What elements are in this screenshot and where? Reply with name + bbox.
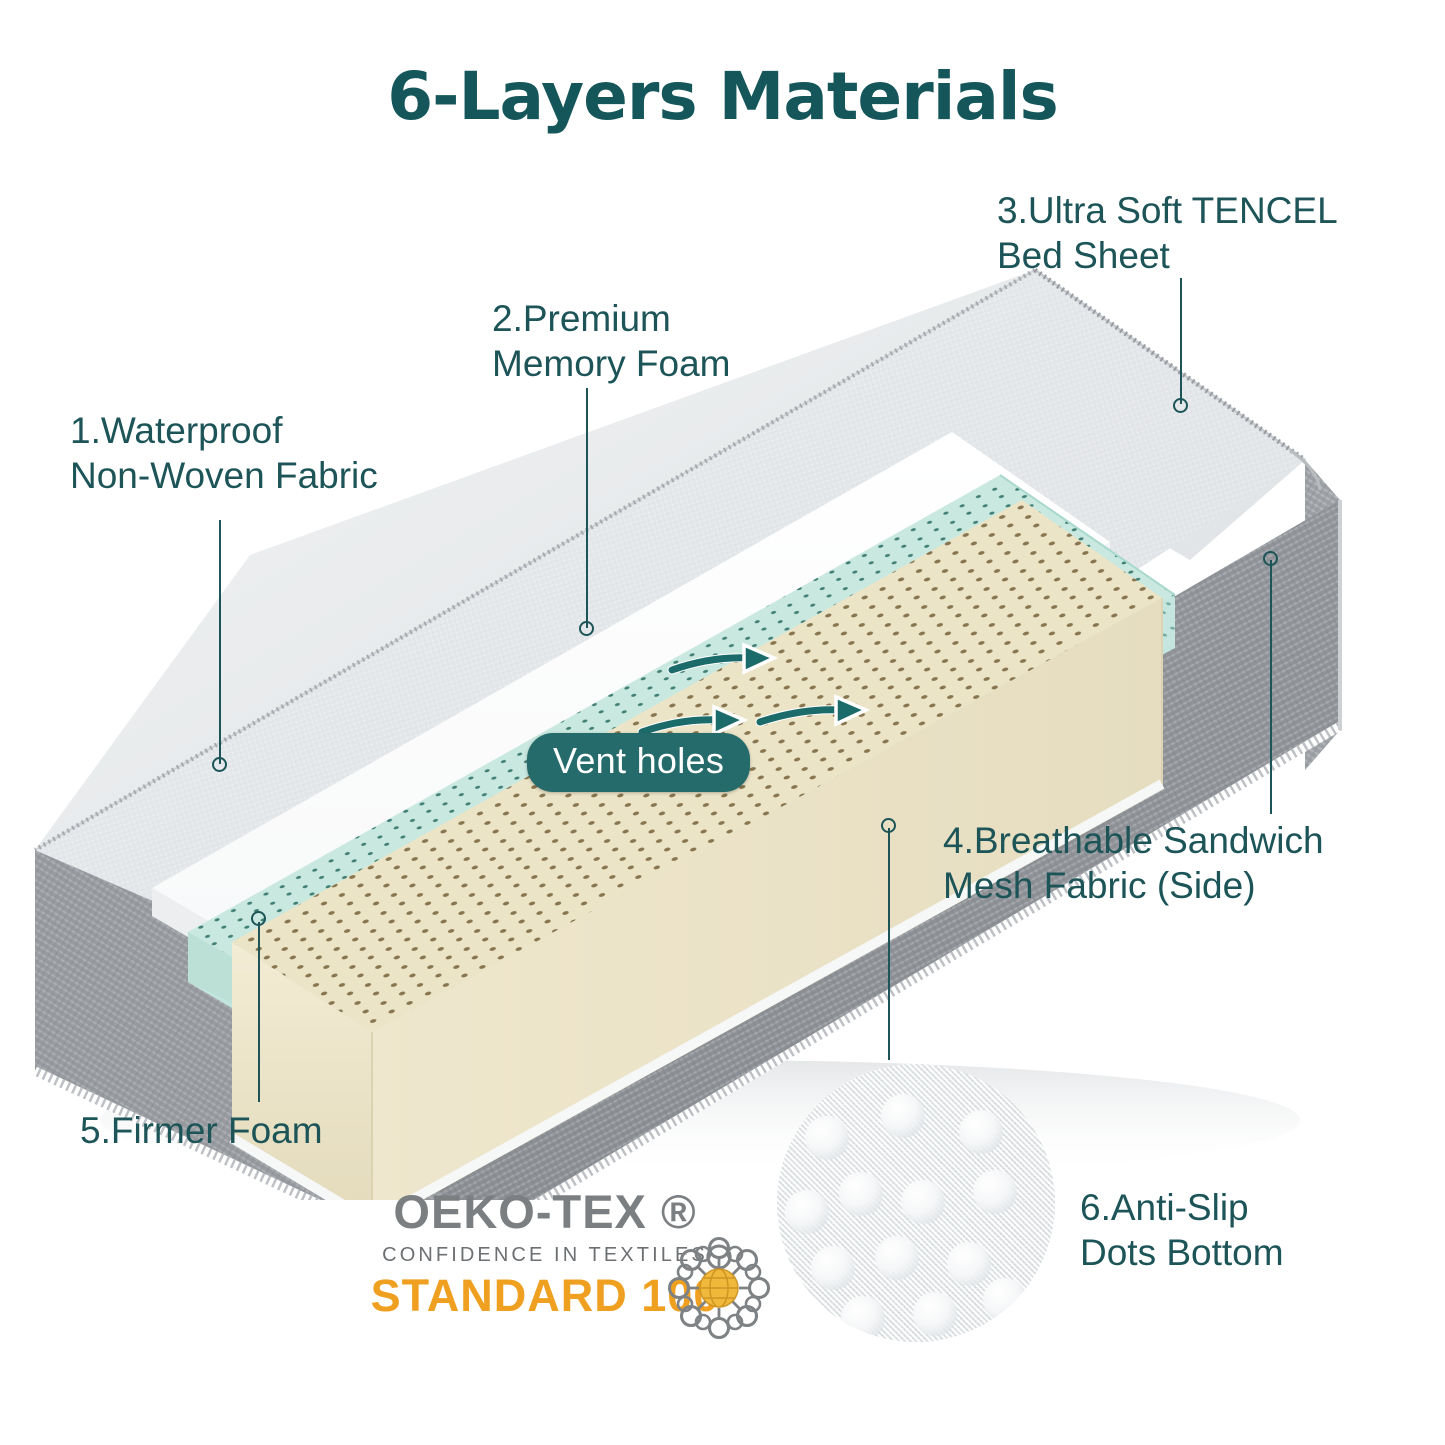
callout-label-6: 6.Anti-Slip Dots Bottom — [1080, 1185, 1284, 1275]
vent-holes-badge: Vent holes — [527, 733, 750, 792]
callout-label-4: 4.Breathable Sandwich Mesh Fabric (Side) — [943, 818, 1324, 908]
infographic-canvas: 6-Layers Materials — [0, 0, 1445, 1445]
leader-line-3 — [1180, 278, 1182, 404]
dot-grid — [777, 1064, 1055, 1342]
leader-line-1 — [219, 520, 221, 764]
callout-label-3: 3.Ultra Soft TENCEL Bed Sheet — [997, 188, 1338, 278]
oeko-tex-globe-icon — [663, 1232, 775, 1344]
leader-dot-4 — [1263, 551, 1278, 566]
leader-dot-1 — [212, 757, 227, 772]
oeko-tex-brand: OEKO-TEX ® — [330, 1188, 760, 1235]
leader-line-6 — [888, 828, 890, 1060]
callout-label-5: 5.Firmer Foam — [80, 1108, 323, 1153]
leader-dot-3 — [1173, 398, 1188, 413]
callout-label-1: 1.Waterproof Non-Woven Fabric — [70, 408, 378, 498]
leader-line-2 — [586, 388, 588, 628]
leader-dot-6 — [881, 818, 896, 833]
page-title: 6-Layers Materials — [0, 58, 1445, 135]
leader-line-5 — [258, 922, 260, 1102]
leader-dot-5 — [251, 911, 266, 926]
anti-slip-dots-inset — [777, 1064, 1055, 1342]
callout-label-2: 2.Premium Memory Foam — [492, 296, 730, 386]
leader-dot-2 — [579, 621, 594, 636]
leader-line-4 — [1270, 560, 1272, 814]
